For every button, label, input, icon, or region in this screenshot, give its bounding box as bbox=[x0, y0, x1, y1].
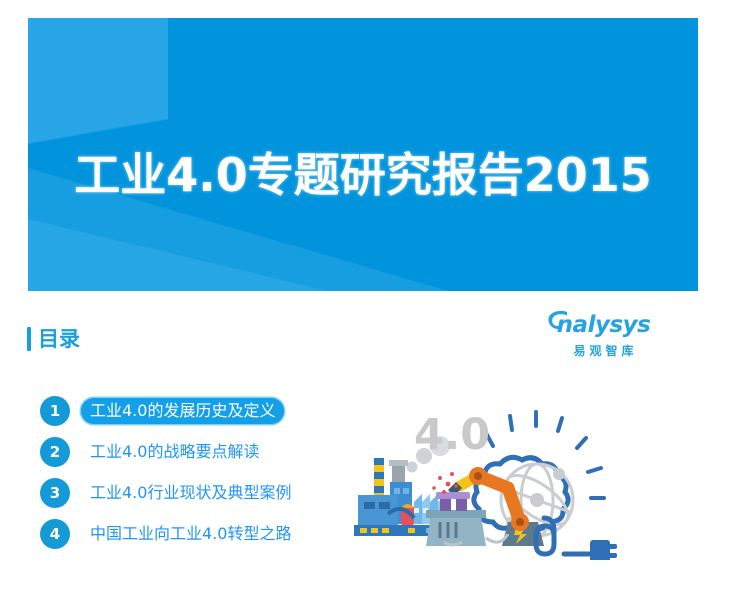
heading-accent-bar bbox=[27, 327, 31, 351]
table-of-contents: 1 工业4.0的发展历史及定义 2 工业4.0的战略要点解读 3 工业4.0行业… bbox=[40, 396, 350, 560]
contents-heading-label: 目录 bbox=[38, 329, 80, 350]
report-title: 工业4.0专题研究报告2015 bbox=[28, 152, 698, 198]
industry-illustration: 4.0 bbox=[352, 398, 642, 560]
analysys-logo: nalysys 易观智库 bbox=[546, 314, 661, 359]
toc-item-4[interactable]: 4 中国工业向工业4.0转型之路 bbox=[40, 519, 350, 549]
illustration-graphic bbox=[352, 398, 642, 560]
toc-item-2[interactable]: 2 工业4.0的战略要点解读 bbox=[40, 437, 350, 467]
toc-label[interactable]: 工业4.0的发展历史及定义 bbox=[81, 398, 284, 424]
title-banner: 工业4.0专题研究报告2015 bbox=[28, 18, 698, 291]
contents-heading: 目录 bbox=[27, 327, 80, 351]
toc-item-1[interactable]: 1 工业4.0的发展历史及定义 bbox=[40, 396, 350, 426]
toc-label[interactable]: 工业4.0行业现状及典型案例 bbox=[81, 480, 300, 506]
toc-label[interactable]: 中国工业向工业4.0转型之路 bbox=[81, 521, 300, 547]
toc-label[interactable]: 工业4.0的战略要点解读 bbox=[81, 439, 268, 465]
toc-number-badge: 4 bbox=[40, 519, 70, 549]
toc-number-badge: 3 bbox=[40, 478, 70, 508]
toc-number-badge: 2 bbox=[40, 437, 70, 467]
logo-wordmark-row: nalysys bbox=[546, 314, 661, 337]
logo-swoosh-icon bbox=[547, 310, 569, 330]
logo-wordmark-text: nalysys bbox=[557, 312, 651, 338]
toc-number-badge: 1 bbox=[40, 396, 70, 426]
logo-subtitle: 易观智库 bbox=[546, 342, 661, 359]
version-text: 4.0 bbox=[414, 414, 490, 457]
toc-item-3[interactable]: 3 工业4.0行业现状及典型案例 bbox=[40, 478, 350, 508]
plug-head-icon bbox=[590, 540, 617, 560]
